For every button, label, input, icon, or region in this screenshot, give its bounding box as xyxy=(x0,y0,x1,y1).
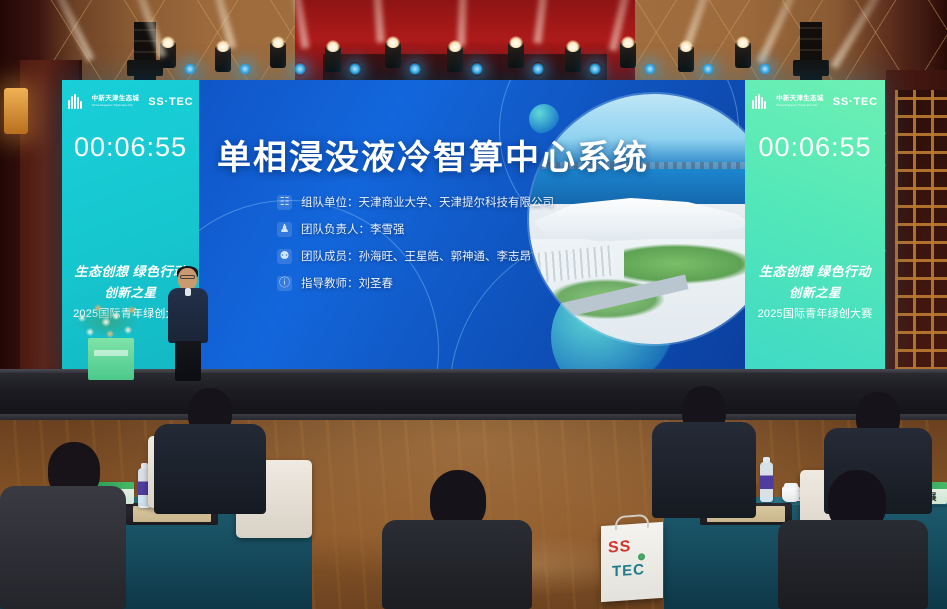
blue-wash-light-icon xyxy=(589,62,601,76)
countdown-timer-left: 00:06:55 xyxy=(62,132,199,163)
eco-city-logo-text: 中新天津生态城 China-Singapore Tianjin Eco-City xyxy=(776,96,824,106)
sstec-logo-text: SS·TEC xyxy=(833,96,878,108)
water-bottle-right xyxy=(760,462,773,502)
screenshot-root: 中新天津生态城 China-Singapore Tianjin Eco-City… xyxy=(0,0,947,609)
presenter-torso xyxy=(168,288,208,343)
truss-head-right xyxy=(793,60,829,76)
project-meta-list: ☷组队单位：天津商业大学、天津提尔科技有限公司♟团队负责人：李雪强⚉团队成员：孙… xyxy=(277,194,717,302)
audience-torso-3 xyxy=(652,422,756,518)
left-panel-logo-row: 中新天津生态城 China-Singapore Tianjin Eco-City… xyxy=(62,94,199,109)
slogan-line-1: 生态创想 绿色行动 xyxy=(745,261,885,280)
right-panel-logo-row: 中新天津生态城 China-Singapore Tianjin Eco-City… xyxy=(745,94,885,109)
eco-city-logo-text: 中新天津生态城 China-Singapore Tianjin Eco-City xyxy=(92,96,140,106)
blue-wash-light-icon xyxy=(184,62,196,76)
project-meta-row: ♟团队负责人：李雪强 xyxy=(277,221,717,237)
countdown-timer-right: 00:06:55 xyxy=(745,132,885,163)
moving-head-light-icon xyxy=(620,42,636,68)
moving-head-light-icon xyxy=(735,42,751,68)
tote-bag-dot-icon xyxy=(638,553,645,560)
moving-head-light-icon xyxy=(565,46,581,72)
person-badge-icon: ♟ xyxy=(277,222,292,237)
blue-wash-light-icon xyxy=(532,62,544,76)
flower-stand xyxy=(88,338,134,380)
moving-head-light-icon xyxy=(385,42,401,68)
project-meta-row: ⚉团队成员：孙海旺、王星皓、郭神通、李志昂 xyxy=(277,248,717,264)
eco-city-logo-icon xyxy=(68,94,83,109)
moving-head-light-icon xyxy=(215,46,231,72)
project-meta-row: ☷组队单位：天津商业大学、天津提尔科技有限公司 xyxy=(277,194,717,210)
right-panel-slogan: 生态创想 绿色行动 创新之星 2025国际青年绿创大赛 xyxy=(745,261,885,321)
project-meta-text: 组队单位：天津商业大学、天津提尔科技有限公司 xyxy=(301,194,554,210)
presenter-legs xyxy=(175,341,201,381)
blue-wash-light-icon xyxy=(702,62,714,76)
wall-lamp-icon xyxy=(4,88,28,134)
slogan-line-3: 2025国际青年绿创大赛 xyxy=(745,305,885,321)
blue-wash-light-icon xyxy=(409,62,421,76)
blue-wash-light-icon xyxy=(759,62,771,76)
project-meta-text: 团队负责人：李雪强 xyxy=(301,221,405,237)
project-meta-text: 指导教师：刘圣春 xyxy=(301,275,393,291)
moving-head-light-icon xyxy=(270,42,286,68)
presenter-head xyxy=(178,268,197,290)
truss-head-left xyxy=(127,60,163,76)
sstec-tote-bag: SS TEC xyxy=(601,522,663,602)
audience-torso-6 xyxy=(382,520,532,609)
tote-bag-ss-text: SS xyxy=(608,538,631,558)
moving-head-light-icon xyxy=(325,46,341,72)
audience-torso-2 xyxy=(0,486,126,609)
blue-wash-light-icon xyxy=(294,62,306,76)
moving-head-light-icon xyxy=(447,46,463,72)
microphone-icon xyxy=(185,288,191,296)
project-title: 单相浸没液冷智算中心系统 xyxy=(217,130,697,179)
audience-torso-5 xyxy=(778,520,928,609)
project-meta-row: ⓘ指导教师：刘圣春 xyxy=(277,275,717,291)
teacup-right xyxy=(782,486,800,502)
eco-city-logo-icon xyxy=(752,94,767,109)
sstec-logo-text: SS·TEC xyxy=(148,96,193,108)
audience-torso-1 xyxy=(154,424,266,514)
chinese-lattice-screen xyxy=(895,90,947,370)
blue-wash-light-icon xyxy=(471,62,483,76)
blue-wash-light-icon xyxy=(644,62,656,76)
building-icon: ☷ xyxy=(277,195,292,210)
moving-head-light-icon xyxy=(508,42,524,68)
teacher-icon: ⓘ xyxy=(277,276,292,291)
led-right-panel: 中新天津生态城 China-Singapore Tianjin Eco-City… xyxy=(745,80,885,373)
led-center-panel: 单相浸没液冷智算中心系统 ☷组队单位：天津商业大学、天津提尔科技有限公司♟团队负… xyxy=(199,80,745,373)
slogan-line-2: 创新之星 xyxy=(745,282,885,301)
glasses-icon xyxy=(180,275,195,279)
blue-wash-light-icon xyxy=(239,62,251,76)
moving-head-light-icon xyxy=(678,46,694,72)
tote-bag-tec-text: TEC xyxy=(612,561,645,580)
group-icon: ⚉ xyxy=(277,249,292,264)
tote-bag-handle xyxy=(615,514,649,530)
blue-wash-light-icon xyxy=(349,62,361,76)
project-meta-text: 团队成员：孙海旺、王星皓、郭神通、李志昂 xyxy=(301,248,531,264)
